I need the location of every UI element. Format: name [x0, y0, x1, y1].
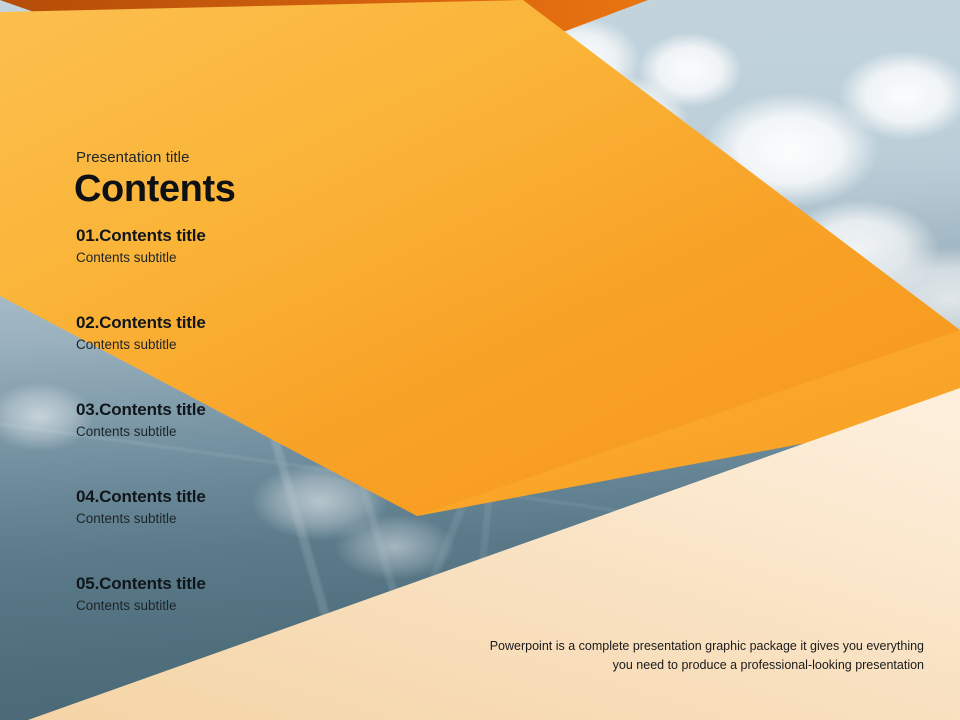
slide-text-layer: Presentation title Contents 01.Contents …: [0, 0, 960, 720]
presentation-slide: Presentation title Contents 01.Contents …: [0, 0, 960, 720]
contents-item-04[interactable]: 04.Contents title Contents subtitle: [76, 487, 206, 526]
footnote-line-2: you need to produce a professional-looki…: [404, 656, 924, 675]
contents-item-01[interactable]: 01.Contents title Contents subtitle: [76, 226, 206, 265]
presentation-title-label: Presentation title: [76, 149, 190, 166]
contents-item-04-title: 04.Contents title: [76, 487, 206, 507]
contents-item-03-subtitle: Contents subtitle: [76, 424, 206, 440]
contents-item-03-title: 03.Contents title: [76, 400, 206, 420]
contents-item-03[interactable]: 03.Contents title Contents subtitle: [76, 400, 206, 439]
contents-item-02-title: 02.Contents title: [76, 313, 206, 333]
footnote-text: Powerpoint is a complete presentation gr…: [404, 637, 924, 676]
contents-item-05[interactable]: 05.Contents title Contents subtitle: [76, 574, 206, 613]
contents-item-02-subtitle: Contents subtitle: [76, 337, 206, 353]
footnote-line-1: Powerpoint is a complete presentation gr…: [404, 637, 924, 656]
contents-item-05-title: 05.Contents title: [76, 574, 206, 594]
contents-item-01-title: 01.Contents title: [76, 226, 206, 246]
page-title: Contents: [74, 168, 235, 211]
contents-item-02[interactable]: 02.Contents title Contents subtitle: [76, 313, 206, 352]
contents-item-05-subtitle: Contents subtitle: [76, 598, 206, 614]
contents-item-01-subtitle: Contents subtitle: [76, 250, 206, 266]
contents-item-04-subtitle: Contents subtitle: [76, 511, 206, 527]
